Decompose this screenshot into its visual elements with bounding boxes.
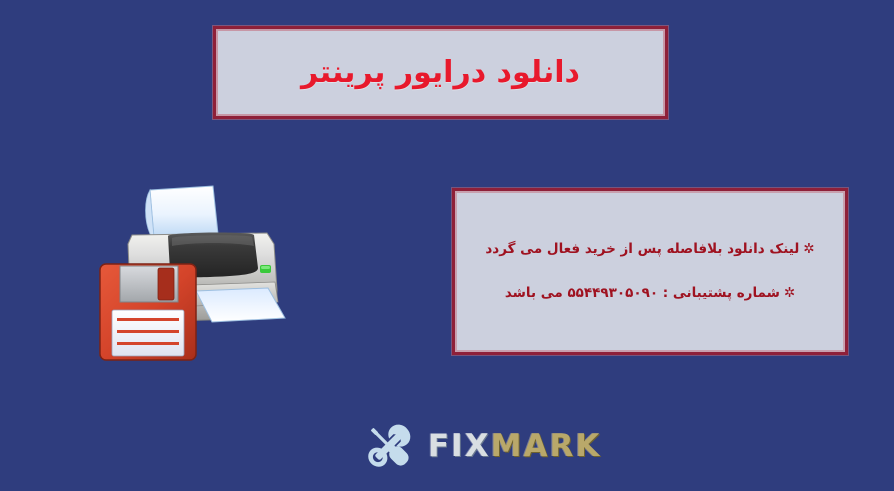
asterisk-icon: ✲ [784,285,795,301]
brand-logo: FIXMARK [360,414,580,478]
wrench-screwdriver-icon [360,417,418,475]
floppy-disk [100,264,196,360]
page-title: دانلود درایور پرینتر [301,55,580,91]
info-line-download-activation-text: لینک دانلود بلافاصله پس از خرید فعال می … [485,241,799,257]
brand-wordmark: FIXMARK [428,431,601,462]
info-line-support-phone: ✲شماره پشتیبانی : ۰۹۰۵۰۳۹۴۴۵۵ می باشد [505,285,795,303]
info-panel: ✲لینک دانلود بلافاصله پس از خرید فعال می… [452,188,848,355]
printer-download-illustration [92,172,312,368]
asterisk-icon: ✲ [803,241,814,257]
brand-word-mark: MARK [491,431,602,462]
info-line-support-phone-text: شماره پشتیبانی : ۰۹۰۵۰۳۹۴۴۵۵ می باشد [505,285,780,301]
title-banner: دانلود درایور پرینتر [213,26,668,119]
info-line-download-activation: ✲لینک دانلود بلافاصله پس از خرید فعال می… [485,241,814,259]
printer-paper-top [146,186,219,238]
slide-canvas: دانلود درایور پرینتر [0,0,894,491]
brand-word-fix: FIX [428,431,491,462]
